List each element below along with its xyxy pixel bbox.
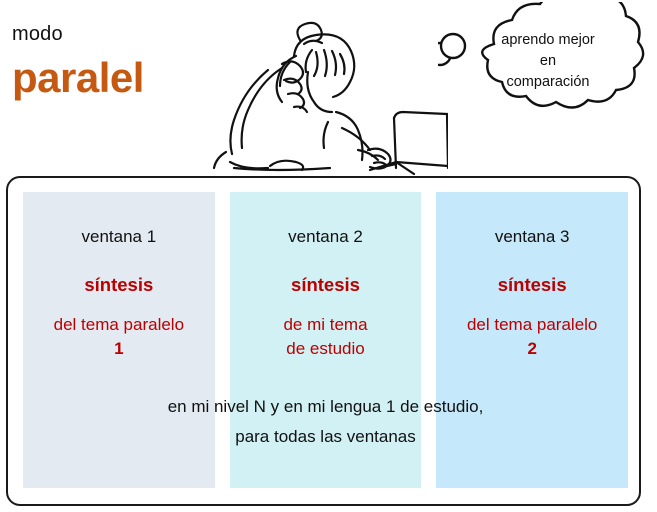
window-label-1: ventana 1 (23, 227, 215, 247)
window-column-2[interactable]: ventana 2 síntesis de mi tema de estudio (230, 192, 422, 488)
thought-dot-5 (441, 34, 465, 58)
synthesis-heading-3: síntesis (436, 274, 628, 296)
synthesis-description-line-1: del tema paralelo (436, 313, 628, 338)
window-column-3[interactable]: ventana 3 síntesis del tema paralelo 2 (436, 192, 628, 488)
synthesis-description-line-1: de mi tema (230, 313, 422, 338)
synthesis-description-line-1: del tema paralelo (23, 313, 215, 338)
synthesis-description-2: de mi tema de estudio (230, 313, 422, 362)
synthesis-description-line-2: de estudio (230, 337, 422, 362)
thought-bubble-line-3: comparación (472, 72, 624, 93)
windows-panel: ventana 1 síntesis del tema paralelo 1 v… (6, 176, 641, 506)
window-label-3: ventana 3 (436, 227, 628, 247)
windows-columns: ventana 1 síntesis del tema paralelo 1 v… (23, 192, 628, 488)
header-zone: modo paralel (0, 0, 657, 176)
synthesis-heading-1: síntesis (23, 274, 215, 296)
synthesis-description-line-2: 1 (23, 337, 215, 362)
synthesis-description-3: del tema paralelo 2 (436, 313, 628, 362)
window-label-2: ventana 2 (230, 227, 422, 247)
title-block: modo paralel (12, 24, 222, 100)
thought-bubble-line-2: en (472, 51, 624, 72)
illustration-svg (208, 0, 448, 176)
thought-bubble: aprendo mejor en comparación (438, 2, 657, 137)
synthesis-description-line-2: 2 (436, 337, 628, 362)
synthesis-description-1: del tema paralelo 1 (23, 313, 215, 362)
mode-label-large: paralel (12, 56, 222, 100)
window-column-1[interactable]: ventana 1 síntesis del tema paralelo 1 (23, 192, 215, 488)
thought-bubble-text: aprendo mejor en comparación (472, 30, 624, 93)
person-thinking-at-laptop-illustration (208, 0, 448, 176)
synthesis-heading-2: síntesis (230, 274, 422, 296)
mode-label-small: modo (12, 24, 222, 44)
thought-bubble-line-1: aprendo mejor (472, 30, 624, 51)
